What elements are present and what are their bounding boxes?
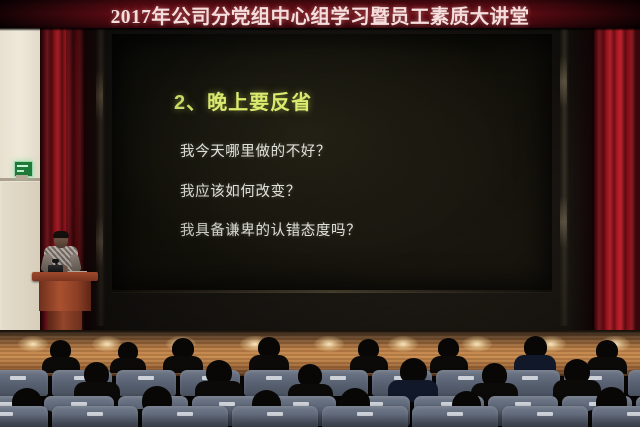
- audience-floor-shade: [0, 414, 640, 427]
- banner-bottom-edge: [0, 28, 640, 31]
- speaker-hair: [53, 231, 69, 238]
- audience-head: [438, 338, 459, 358]
- podium: [32, 272, 98, 330]
- auditorium-seat: [628, 370, 640, 396]
- stage-vignette: [66, 26, 594, 330]
- podium-top: [32, 272, 98, 281]
- stage-curtain-right: [592, 26, 640, 332]
- exit-sign-bracket: [16, 175, 28, 180]
- podium-body: [39, 281, 91, 311]
- audience-area: [0, 344, 640, 427]
- auditorium-photo: 2、晚上要反省 我今天哪里做的不好？ 我应该如何改变？ 我具备谦卑的认错态度吗？…: [0, 0, 640, 427]
- event-banner-text: 2017年公司分党组中心组学习暨员工素质大讲堂: [0, 0, 640, 28]
- stage-apron-lip: [0, 330, 640, 334]
- microphone-head-icon: [52, 259, 59, 263]
- event-banner: 2017年公司分党组中心组学习暨员工素质大讲堂: [0, 0, 640, 28]
- podium-base: [48, 311, 82, 330]
